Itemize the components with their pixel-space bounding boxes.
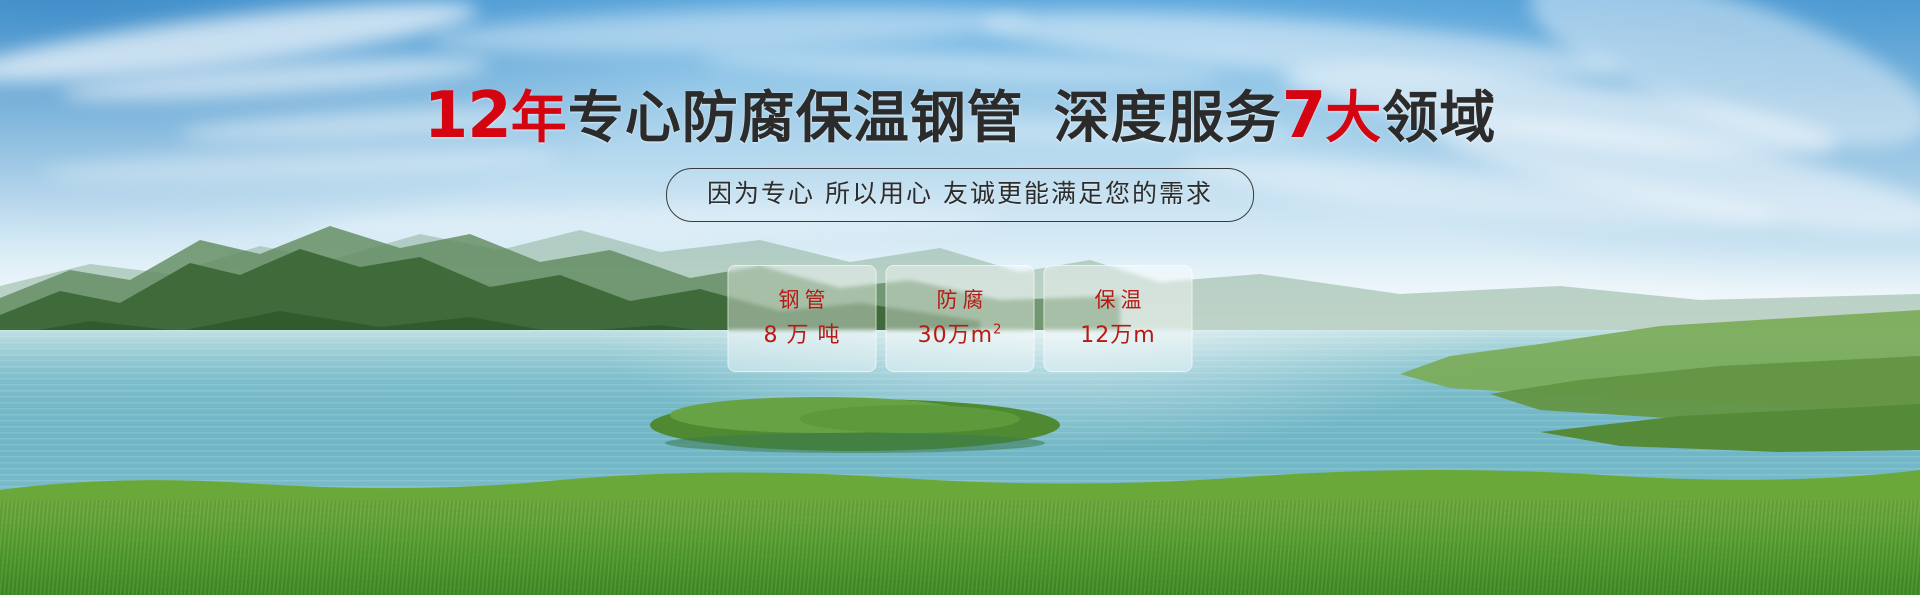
stat-card-value-text: 8 万 吨 [764, 323, 841, 348]
headline-fields-unit: 大 [1325, 91, 1382, 147]
stat-card-list: 钢管 8 万 吨 防腐 30万m2 保温 12万m [728, 265, 1193, 372]
banner-content: 12年专心防腐保温钢管深度服务7大领域 因为专心 所以用心 友诚更能满足您的需求… [0, 0, 1920, 595]
subtitle-pill: 因为专心 所以用心 友诚更能满足您的需求 [666, 168, 1254, 222]
stat-card-value: 8 万 吨 [764, 325, 841, 347]
banner-headline: 12年专心防腐保温钢管深度服务7大领域 [0, 84, 1920, 148]
stat-card-value-text: 30万m [918, 323, 993, 348]
headline-service-phrase: 深度服务 [1054, 91, 1282, 147]
promo-banner: 12年专心防腐保温钢管深度服务7大领域 因为专心 所以用心 友诚更能满足您的需求… [0, 0, 1920, 595]
stat-card-value-superscript: 2 [993, 323, 1002, 338]
stat-card-value: 12万m [1080, 325, 1155, 347]
stat-card-steel-pipe: 钢管 8 万 吨 [728, 265, 877, 372]
headline-years-number: 12 [424, 84, 511, 148]
stat-card-insulation: 保温 12万m [1044, 265, 1193, 372]
headline-fields-number: 7 [1282, 84, 1326, 148]
headline-main-phrase: 专心防腐保温钢管 [568, 91, 1024, 147]
headline-years-unit: 年 [511, 91, 568, 147]
stat-card-anticorrosion: 防腐 30万m2 [886, 265, 1035, 372]
stat-card-label: 钢管 [774, 290, 831, 311]
stat-card-value-text: 12万m [1080, 323, 1155, 348]
subtitle-text: 因为专心 所以用心 友诚更能满足您的需求 [707, 180, 1213, 208]
stat-card-label: 保温 [1090, 290, 1147, 311]
headline-fields-suffix: 领域 [1382, 91, 1496, 147]
stat-card-label: 防腐 [932, 290, 989, 311]
stat-card-value: 30万m2 [918, 325, 1003, 347]
